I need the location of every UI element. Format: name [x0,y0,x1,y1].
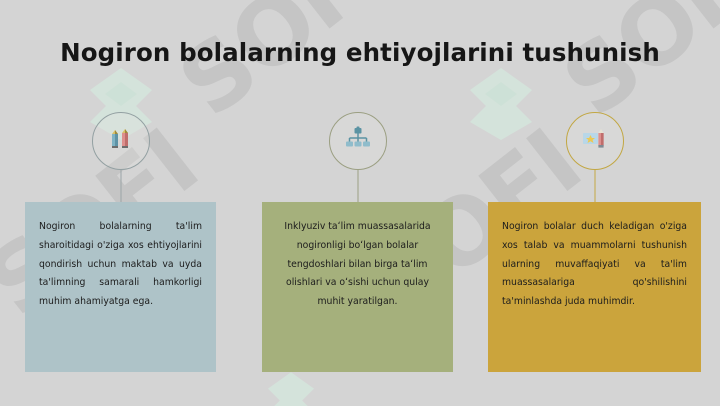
icon-badge-1 [92,112,150,170]
info-card-2: Inklyuziv taʻlim muassasalarida nogironl… [262,202,453,372]
info-card-2-body: Inklyuziv taʻlim muassasalarida nogironl… [276,218,439,312]
icon-badge-3 [566,112,624,170]
connector-line-2 [357,170,358,203]
info-card-3-body: Nogiron bolalar duch keladigan o'ziga xo… [502,218,687,312]
connector-line-3 [594,170,595,203]
info-card-1: Nogiron bolalarning ta'lim sharoitidagi … [25,202,216,372]
info-card-1-body: Nogiron bolalarning ta'lim sharoitidagi … [39,218,202,312]
slide-canvas: SOFI SOFI SOFI SOFI SOFI Nogiron bolalar… [0,0,720,406]
page-title: Nogiron bolalarning ehtiyojlarini tushun… [0,38,720,67]
info-card-3: Nogiron bolalar duch keladigan o'ziga xo… [488,202,701,372]
icon-circle-2 [329,112,387,170]
connector-line-1 [120,170,121,203]
two-pencils-icon [107,125,135,157]
icon-badge-2 [329,112,387,170]
note-star-pencil-icon [581,126,609,156]
org-chart-hierarchy-icon [345,126,371,156]
icon-circle-1 [92,112,150,170]
icon-circle-3 [566,112,624,170]
